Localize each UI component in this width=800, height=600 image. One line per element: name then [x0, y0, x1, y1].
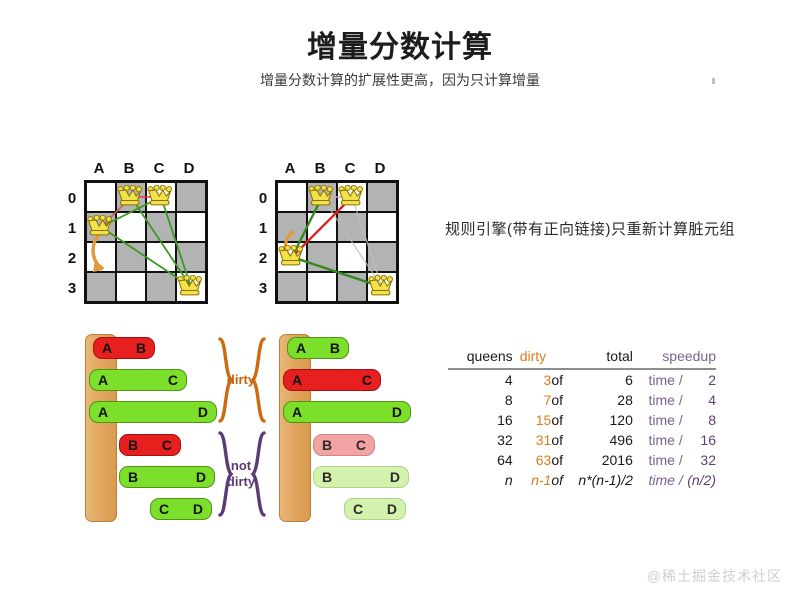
conflict-lines-after	[275, 180, 399, 304]
table-header-row: queens dirty total speedup	[448, 348, 716, 369]
cell-total-2: 120	[576, 410, 633, 430]
cell-time-2: time /	[633, 410, 683, 430]
cell-of-1: of	[551, 390, 575, 410]
cell-of-4: of	[551, 450, 575, 470]
pair-left-b1-2: B	[322, 438, 332, 452]
pair-row-cd[interactable]: C D	[150, 498, 212, 520]
brace-not-dirty-label-line1: not	[212, 458, 270, 473]
cell-of-5: of	[551, 470, 575, 490]
cell-speedup-5: (n/2)	[683, 470, 716, 490]
column-label-b-2: B	[305, 160, 335, 177]
pair-left-a3-2: A	[292, 405, 302, 419]
cell-of-3: of	[551, 430, 575, 450]
pair-group-after: A B A C A D B C B D C D	[278, 330, 408, 520]
table-row: 32 31 of 496 time / 16	[448, 430, 716, 450]
page-title: 增量分数计算	[0, 22, 800, 66]
row-label-3-2: 3	[255, 280, 271, 297]
pair-left-c1-2: C	[353, 502, 363, 516]
pair-right-c2-2: C	[356, 438, 366, 452]
cell-time-1: time /	[633, 390, 683, 410]
pair-row-ab[interactable]: A B	[93, 337, 155, 359]
column-label-b: B	[114, 160, 144, 177]
pair-right-c1-2: C	[362, 373, 372, 387]
cell-total-0: 6	[576, 369, 633, 390]
pair-right-d2: D	[196, 470, 206, 484]
cell-dirty-2: 15	[513, 410, 552, 430]
pair-left-b2-2: B	[322, 470, 332, 484]
column-label-c-2: C	[335, 160, 365, 177]
page-subtitle: 增量分数计算的扩展性更高，因为只计算增量	[0, 70, 800, 90]
header-speedup: speedup	[633, 348, 716, 369]
spine-bar-after	[279, 334, 311, 522]
pair-left-a2-2: A	[292, 373, 302, 387]
cell-queens-5: n	[448, 470, 513, 490]
pair-left-b2: B	[128, 470, 138, 484]
brace-dirty: dirty	[212, 336, 270, 424]
stray-mark	[712, 78, 715, 84]
row-label-3: 3	[64, 280, 80, 297]
column-label-c: C	[144, 160, 174, 177]
table-row: 64 63 of 2016 time / 32	[448, 450, 716, 470]
cell-speedup-0: 2	[683, 369, 716, 390]
cell-total-4: 2016	[576, 450, 633, 470]
cell-of-2: of	[551, 410, 575, 430]
cell-queens-1: 8	[448, 390, 513, 410]
pair-row-bc-2[interactable]: B C	[313, 434, 375, 456]
pair-row-ab-2[interactable]: A B	[287, 337, 349, 359]
conflict-lines-before	[84, 180, 208, 304]
pair-right-d1: D	[198, 405, 208, 419]
pair-right-d1-2: D	[392, 405, 402, 419]
slide-root: 增量分数计算 增量分数计算的扩展性更高，因为只计算增量 A B C D 0 1 …	[0, 0, 800, 600]
table-row: n n-1 of n*(n-1)/2 time / (n/2)	[448, 470, 716, 490]
pair-row-ac-2[interactable]: A C	[283, 369, 381, 391]
cell-total-1: 28	[576, 390, 633, 410]
cell-time-4: time /	[633, 450, 683, 470]
cell-speedup-1: 4	[683, 390, 716, 410]
column-label-d-2: D	[365, 160, 395, 177]
pair-right-d3-2: D	[387, 502, 397, 516]
cell-total-5: n*(n-1)/2	[576, 470, 633, 490]
brace-not-dirty: not dirty	[212, 430, 270, 518]
pair-row-bd[interactable]: B D	[119, 466, 215, 488]
pair-left-c1: C	[159, 502, 169, 516]
pair-row-bd-2[interactable]: B D	[313, 466, 409, 488]
cell-queens-3: 32	[448, 430, 513, 450]
table-row: 16 15 of 120 time / 8	[448, 410, 716, 430]
pair-left-a2: A	[98, 373, 108, 387]
brace-dirty-label: dirty	[212, 372, 270, 387]
column-label-a: A	[84, 160, 114, 177]
cell-dirty-0: 3	[513, 369, 552, 390]
cell-dirty-1: 7	[513, 390, 552, 410]
table-row: 8 7 of 28 time / 4	[448, 390, 716, 410]
cell-speedup-4: 32	[683, 450, 716, 470]
rule-engine-caption: 规则引擎(带有正向链接)只重新计算脏元组	[445, 218, 785, 239]
pair-right-c2: C	[162, 438, 172, 452]
pair-left-b1: B	[128, 438, 138, 452]
pair-row-bc[interactable]: B C	[119, 434, 181, 456]
pair-right-d2-2: D	[390, 470, 400, 484]
cell-queens-0: 4	[448, 369, 513, 390]
pair-right-b1-2: B	[330, 341, 340, 355]
spine-bar-before	[85, 334, 117, 522]
cell-queens-4: 64	[448, 450, 513, 470]
speedup-table: queens dirty total speedup 4 3 of 6 time…	[448, 348, 716, 490]
table-row: 4 3 of 6 time / 2	[448, 369, 716, 390]
pair-row-cd-2[interactable]: C D	[344, 498, 406, 520]
pair-right-b1: B	[136, 341, 146, 355]
cell-time-5: time /	[633, 470, 683, 490]
column-label-a-2: A	[275, 160, 305, 177]
cell-time-0: time /	[633, 369, 683, 390]
pair-right-d3: D	[193, 502, 203, 516]
cell-speedup-2: 8	[683, 410, 716, 430]
row-label-0: 0	[64, 190, 80, 207]
column-label-d: D	[174, 160, 204, 177]
cell-speedup-3: 16	[683, 430, 716, 450]
header-total: total	[576, 348, 633, 369]
cell-total-3: 496	[576, 430, 633, 450]
row-label-1: 1	[64, 220, 80, 237]
pair-left-a1: A	[102, 341, 112, 355]
pair-row-ad[interactable]: A D	[89, 401, 217, 423]
pair-row-ac[interactable]: A C	[89, 369, 187, 391]
row-label-0-2: 0	[255, 190, 271, 207]
header-queens: queens	[448, 348, 513, 369]
pair-row-ad-2[interactable]: A D	[283, 401, 411, 423]
cell-queens-2: 16	[448, 410, 513, 430]
row-label-2: 2	[64, 250, 80, 267]
cell-dirty-4: 63	[513, 450, 552, 470]
pair-right-c1: C	[168, 373, 178, 387]
header-dirty: dirty	[513, 348, 576, 369]
cell-dirty-5: n-1	[513, 470, 552, 490]
cell-of-0: of	[551, 369, 575, 390]
watermark: @稀土掘金技术社区	[647, 566, 782, 586]
cell-time-3: time /	[633, 430, 683, 450]
row-label-1-2: 1	[255, 220, 271, 237]
pair-left-a1-2: A	[296, 341, 306, 355]
pair-group-before: A B A C A D B C B D C D	[84, 330, 214, 520]
pair-left-a3: A	[98, 405, 108, 419]
cell-dirty-3: 31	[513, 430, 552, 450]
brace-not-dirty-label-line2: dirty	[212, 474, 270, 489]
row-label-2-2: 2	[255, 250, 271, 267]
